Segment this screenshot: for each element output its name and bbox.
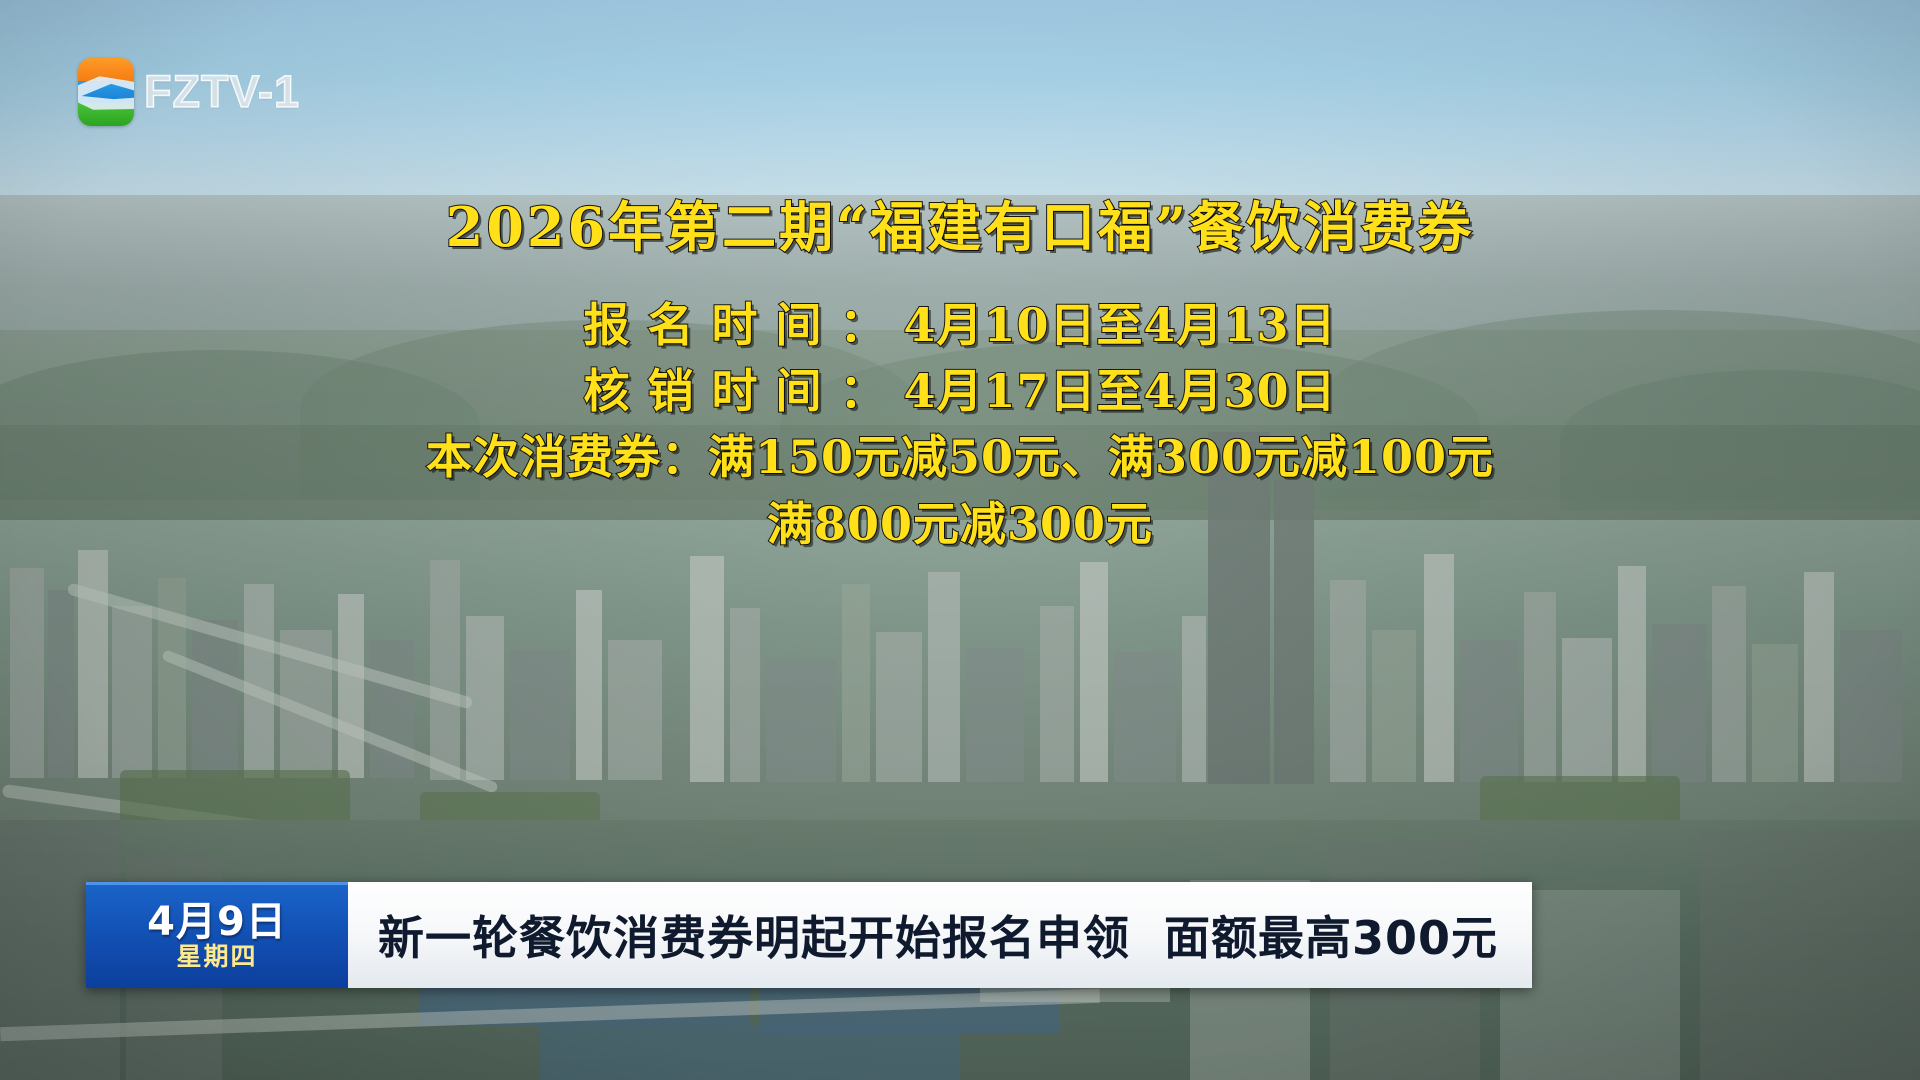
promo-line-registration: 报 名 时 间 ： 4月10日至4月13日: [0, 292, 1920, 358]
lower-third: 4月9日 星期四 新一轮餐饮消费券明起开始报名申领 面额最高300元: [86, 882, 1532, 988]
promo-line-denominations: 本次消费券：满150元减50元、满300元减100元: [0, 424, 1920, 490]
date-box: 4月9日 星期四: [86, 882, 348, 988]
date-day: 4月9日: [147, 901, 287, 943]
promo-line-denominations-cont: 满800元减300元: [0, 491, 1920, 557]
headline-text: 新一轮餐饮消费券明起开始报名申领 面额最高300元: [378, 902, 1498, 968]
date-weekday: 星期四: [176, 943, 257, 972]
broadcast-screen: FZTV-1 2026年第二期“福建有口福”餐饮消费券 报 名 时 间 ： 4月…: [0, 0, 1920, 1080]
channel-logo: FZTV-1: [78, 58, 300, 126]
promo-graphic: 2026年第二期“福建有口福”餐饮消费券 报 名 时 间 ： 4月10日至4月1…: [0, 200, 1920, 557]
headline-box: 新一轮餐饮消费券明起开始报名申领 面额最高300元: [348, 882, 1532, 988]
fztv-logo-mark-icon: [78, 58, 134, 126]
channel-logo-text: FZTV-1: [144, 66, 300, 118]
promo-title: 2026年第二期“福建有口福”餐饮消费券: [0, 200, 1920, 254]
promo-line-redemption: 核 销 时 间 ： 4月17日至4月30日: [0, 358, 1920, 424]
